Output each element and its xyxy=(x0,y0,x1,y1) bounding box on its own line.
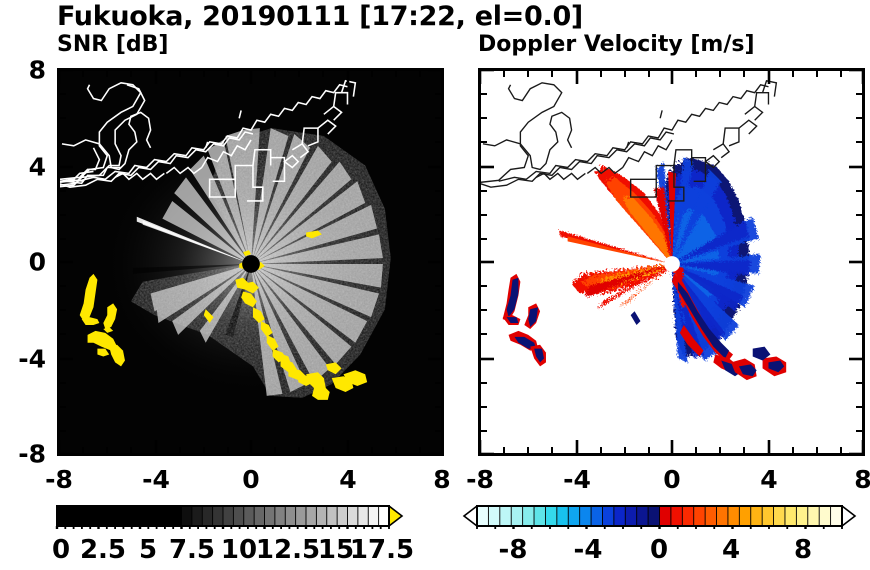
snr-ytick-m8: -8 xyxy=(0,440,46,469)
snr-xtick-m8: -8 xyxy=(45,465,73,494)
snr-radar-image xyxy=(60,71,441,453)
snr-cbar-label-5: 5 xyxy=(139,535,157,565)
snr-xtick-0: 0 xyxy=(242,465,259,494)
velocity-radar-origin xyxy=(664,256,680,272)
snr-xtick-4: 4 xyxy=(339,465,356,494)
snr-plot-area[interactable] xyxy=(57,68,444,456)
snr-cbar-label-10: 10 xyxy=(221,535,257,565)
vel-cbar-label-8: 8 xyxy=(794,535,812,565)
figure-title: Fukuoka, 20190111 [17:22, el=0.0] xyxy=(0,1,640,32)
snr-cbar-label-15: 15 xyxy=(318,535,354,565)
vel-cbar-label-m8: -8 xyxy=(499,535,528,565)
radar-figure: Fukuoka, 20190111 [17:22, el=0.0] SNR [d… xyxy=(0,0,870,570)
velocity-radar-image xyxy=(481,71,862,453)
vel-xtick-m8: -8 xyxy=(466,465,494,494)
vel-xtick-m4: -4 xyxy=(563,465,591,494)
velocity-panel-title: Doppler Velocity [m/s] xyxy=(478,32,755,57)
snr-radar-origin xyxy=(242,255,260,273)
vel-xtick-8: 8 xyxy=(854,465,870,494)
snr-panel-title: SNR [dB] xyxy=(57,32,168,57)
snr-cbar-label-0: 0 xyxy=(52,535,70,565)
snr-ytick-0: 0 xyxy=(0,248,46,277)
snr-ytick-m4: -4 xyxy=(0,345,46,374)
snr-colorbar[interactable] xyxy=(45,505,415,529)
snr-ytick-4: 4 xyxy=(0,153,46,182)
snr-ytick-8: 8 xyxy=(0,56,46,85)
snr-cbar-label-2p5: 2.5 xyxy=(80,535,126,565)
vel-cbar-label-4: 4 xyxy=(722,535,740,565)
snr-cbar-label-17p5: 17.5 xyxy=(350,535,414,565)
snr-xtick-8: 8 xyxy=(433,465,450,494)
vel-cbar-label-0: 0 xyxy=(650,535,668,565)
snr-xtick-m4: -4 xyxy=(142,465,170,494)
snr-cbar-label-12p5: 12.5 xyxy=(256,535,320,565)
snr-cbar-label-7p5: 7.5 xyxy=(169,535,215,565)
vel-cbar-label-m4: -4 xyxy=(574,535,603,565)
vel-xtick-4: 4 xyxy=(760,465,777,494)
velocity-colorbar[interactable] xyxy=(462,505,857,529)
velocity-plot-area[interactable] xyxy=(478,68,865,456)
vel-xtick-0: 0 xyxy=(663,465,680,494)
